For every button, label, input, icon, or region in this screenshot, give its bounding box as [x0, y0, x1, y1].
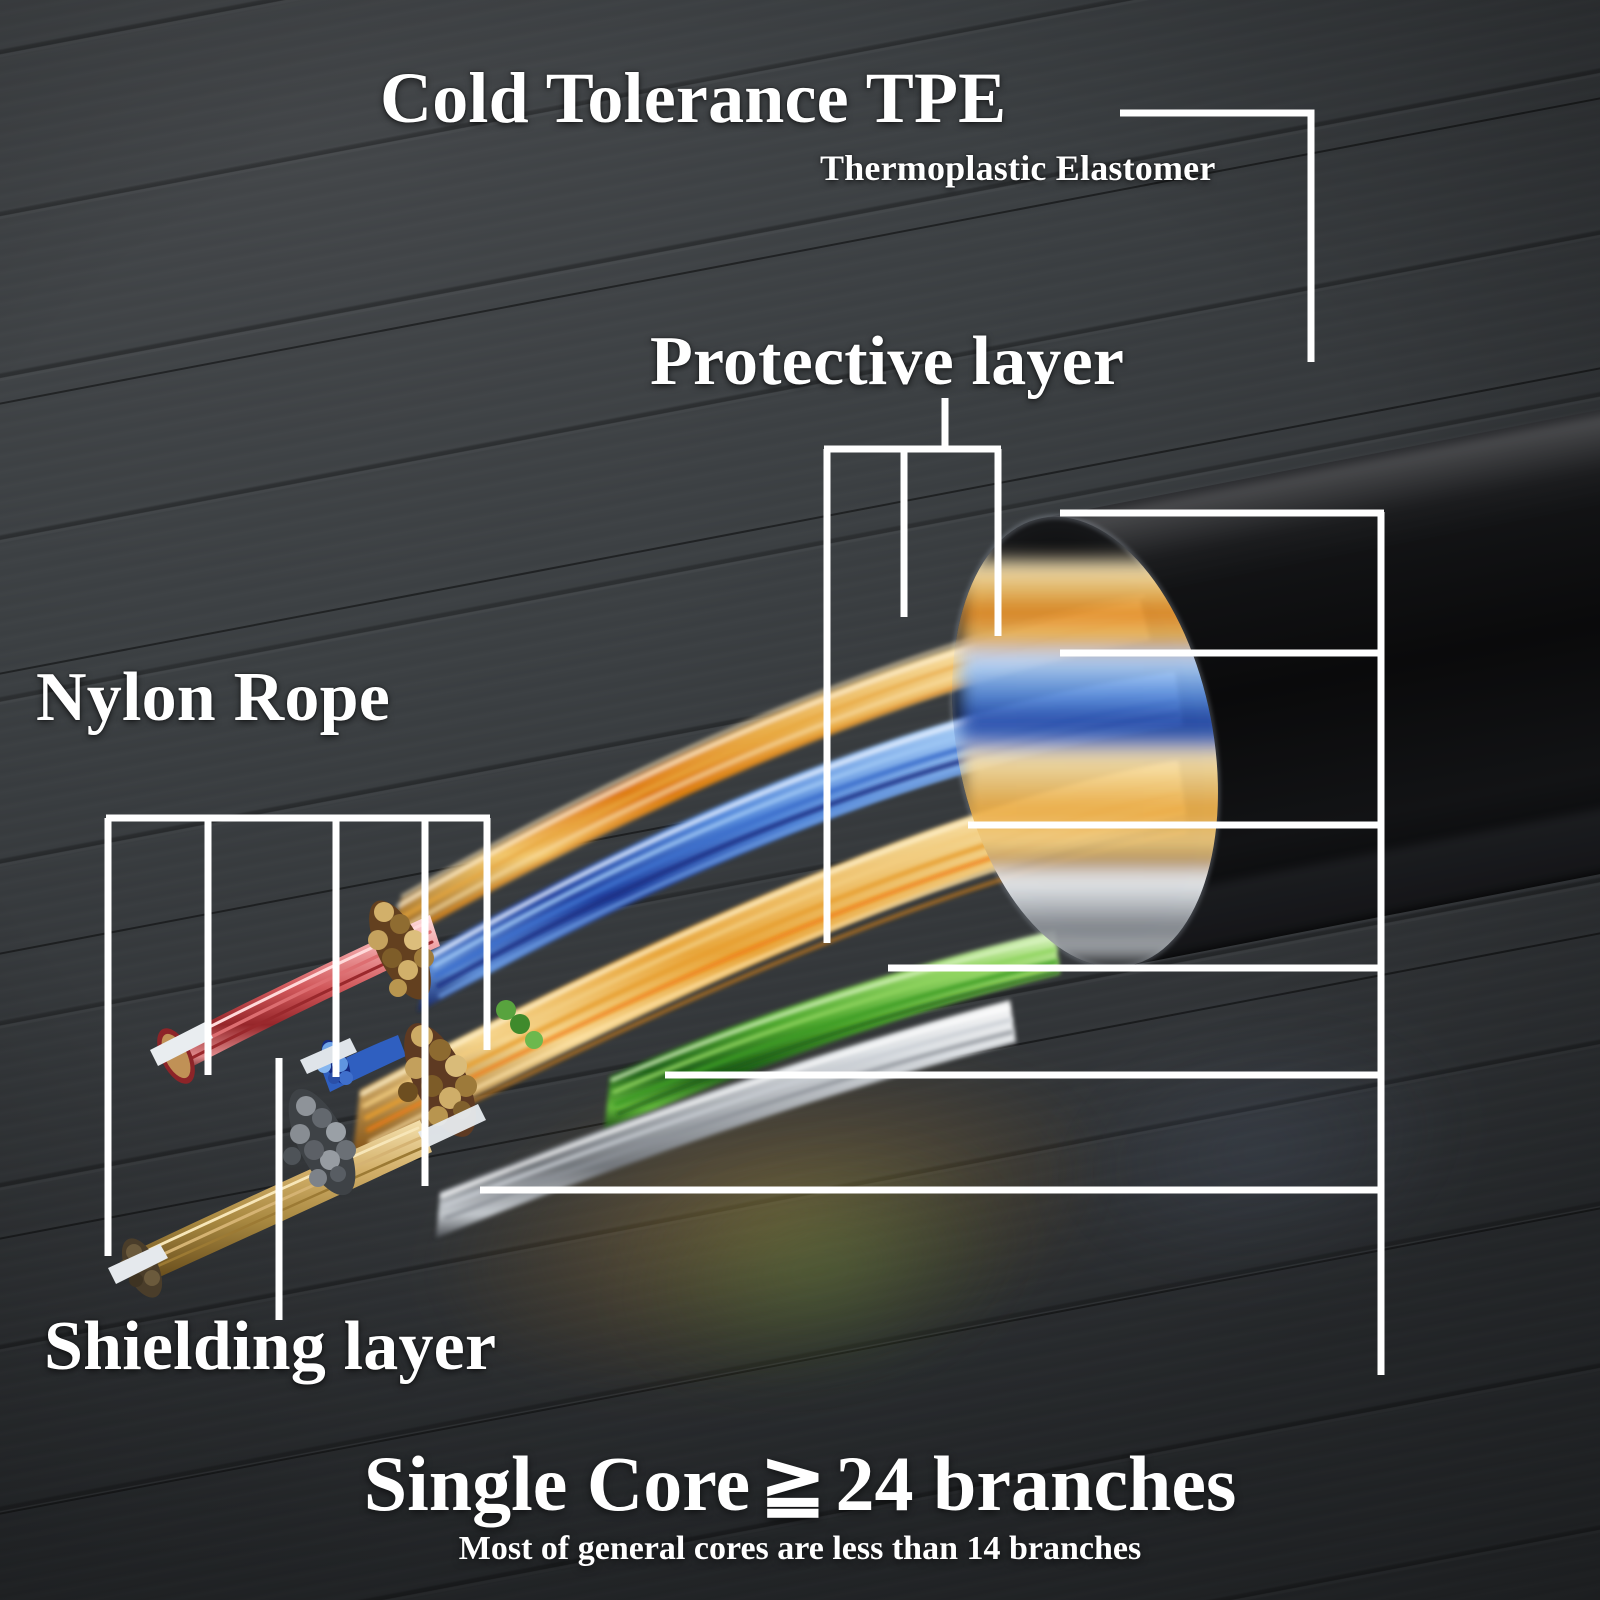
footer-main-suffix: 24 branches — [835, 1440, 1236, 1527]
label-nylon-rope: Nylon Rope — [36, 663, 390, 733]
brass-strands-tail — [108, 1120, 432, 1304]
footer-main-line: Single Core≧24 branches — [0, 1444, 1600, 1524]
label-thermoplastic-elastomer-subtitle: Thermoplastic Elastomer — [820, 150, 1216, 186]
label-cold-tolerance-tpe: Cold Tolerance TPE — [380, 62, 1006, 134]
infographic-canvas: Cold Tolerance TPE Thermoplastic Elastom… — [0, 0, 1600, 1600]
footer-main-prefix: Single Core — [364, 1440, 750, 1527]
label-shielding-layer: Shielding layer — [44, 1312, 496, 1382]
footer-claim: Single Core≧24 branches Most of general … — [0, 1444, 1600, 1567]
footer-sub-line: Most of general cores are less than 14 b… — [0, 1530, 1600, 1567]
label-protective-layer: Protective layer — [650, 327, 1124, 397]
greater-equal-symbol: ≧ — [750, 1440, 835, 1527]
